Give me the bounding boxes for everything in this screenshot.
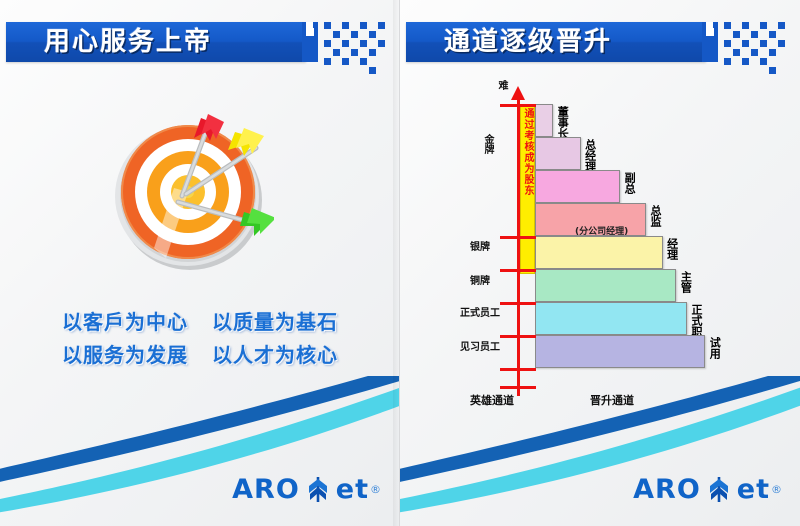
axis-tier-label: 铜牌: [456, 276, 504, 287]
slogan-text: 以质量为基石: [212, 310, 338, 334]
panel-edge-shadow: [393, 0, 399, 526]
wheat-arrow-icon: [704, 475, 734, 503]
logo-text-left: ARO: [232, 474, 300, 505]
pixel-square: [369, 49, 376, 56]
step-label: 试用: [708, 337, 720, 359]
step-label: 总监: [649, 205, 661, 227]
gold-band-text: 通过考核成为股东: [521, 108, 534, 196]
step-label: 经理: [666, 238, 678, 260]
pixel-square: [351, 49, 358, 56]
registered-mark: ®: [771, 483, 782, 496]
staircase-step: [535, 104, 553, 137]
staircase-step: [535, 302, 687, 335]
axis-tick: [500, 269, 536, 272]
pixel-square: [360, 22, 367, 29]
staircase-step: [535, 236, 663, 269]
slogan-row: 以服务为发展 以人才为核心: [0, 343, 400, 367]
axis-top-label: 难: [496, 80, 507, 90]
axis-tier-label: 银牌: [456, 242, 504, 253]
pixel-square: [378, 40, 385, 47]
pixel-dissolve-icon: [306, 22, 400, 68]
pixel-square: [378, 22, 385, 29]
pixel-square: [306, 28, 314, 36]
step-label: 副总: [623, 172, 635, 194]
left-panel: 用心服务上帝: [0, 0, 400, 526]
pixel-square: [369, 67, 376, 74]
pixel-square: [369, 31, 376, 38]
axis-tier-label: 正式员工: [456, 308, 504, 319]
step-label: 主管: [679, 271, 691, 293]
axis-tick: [500, 104, 536, 107]
pixel-square: [360, 40, 367, 47]
logo-text-left: ARO: [633, 474, 701, 505]
logo-text-right: et: [737, 474, 770, 505]
dartboard-with-arrows-icon: [104, 108, 274, 273]
axis-tick: [500, 335, 536, 338]
pixel-square: [342, 40, 349, 47]
axis-tick: [500, 368, 536, 371]
step-label: 总经理: [584, 139, 596, 172]
step-label: 董事长: [556, 106, 568, 139]
slogan-text: 以客戶为中心: [62, 310, 188, 334]
promotion-staircase-chart: 通过考核成为股东董事长总经理副总总监(分公司经理)经理主管正式职员试用金牌银牌铜…: [400, 0, 800, 420]
axis-tick: [500, 302, 536, 305]
left-header-title: 用心服务上帝: [44, 26, 212, 58]
axis-tier-label: 见习员工: [456, 342, 504, 353]
slogan-text: 以人才为核心: [212, 343, 338, 367]
company-logo: ARO et ®: [232, 474, 381, 504]
axis-tick: [500, 236, 536, 239]
pixel-square: [324, 22, 331, 29]
slogan-row: 以客戶为中心 以质量为基石: [0, 310, 400, 334]
registered-mark: ®: [370, 483, 381, 496]
left-panel-header: 用心服务上帝: [6, 22, 306, 62]
pixel-square: [324, 40, 331, 47]
staircase-step: [535, 335, 705, 368]
poster-stage: 用心服务上帝: [0, 0, 800, 526]
staircase-step: [535, 170, 620, 203]
gold-band-shareholder: 通过考核成为股东: [520, 104, 535, 274]
pixel-square: [360, 58, 367, 65]
company-logo: ARO et ®: [633, 474, 782, 504]
slogan-text: 以服务为发展: [62, 343, 188, 367]
wheat-arrow-icon: [303, 475, 333, 503]
pixel-square: [324, 58, 331, 65]
logo-text-right: et: [336, 474, 369, 505]
right-panel: 通道逐级晋升 通过考核成为股东董事长总经理副总总监(分公司经理)经理主管正式职员…: [400, 0, 800, 526]
staircase-step: [535, 269, 676, 302]
pixel-square: [342, 58, 349, 65]
pixel-square: [333, 31, 340, 38]
axis-tier-label: 金牌: [482, 134, 493, 154]
staircase-step: [535, 137, 581, 170]
pixel-square: [351, 31, 358, 38]
slogan-block: 以客戶为中心 以质量为基石 以服务为发展 以人才为核心: [0, 310, 400, 376]
pixel-square: [333, 49, 340, 56]
chart-plot-area: 通过考核成为股东董事长总经理副总总监(分公司经理)经理主管正式职员试用金牌银牌铜…: [460, 86, 790, 406]
pixel-square: [342, 22, 349, 29]
